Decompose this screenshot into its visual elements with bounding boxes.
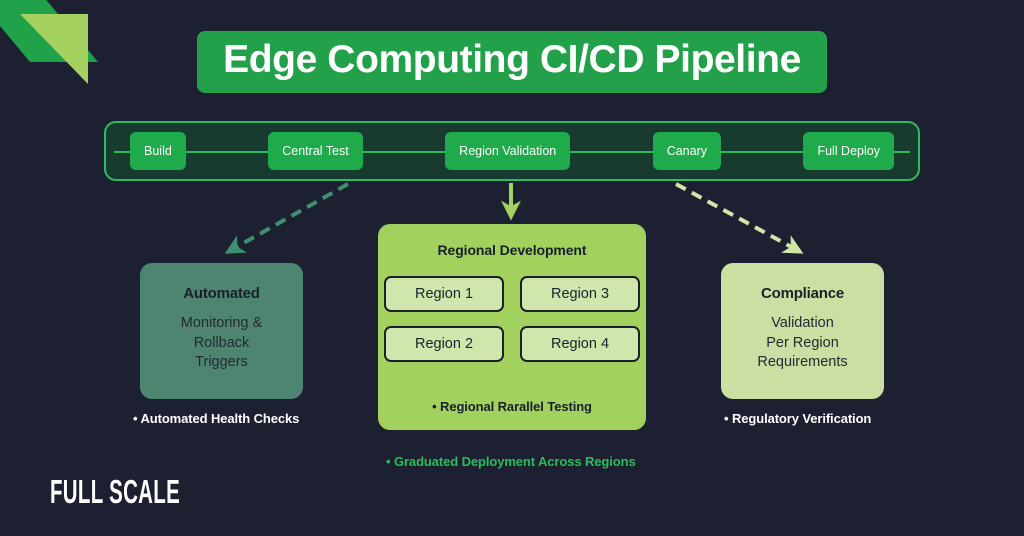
- caption-automated-health-checks: • Automated Health Checks: [133, 411, 299, 426]
- card-compliance-title: Compliance: [761, 285, 844, 302]
- arrow-to-compliance: [676, 184, 795, 249]
- card-automated-line-1: Monitoring &: [181, 314, 262, 334]
- region-box-4[interactable]: Region 4: [520, 326, 640, 362]
- caption-regulatory-verification: • Regulatory Verification: [724, 411, 871, 426]
- region-grid: Region 1 Region 3 Region 2 Region 4: [384, 276, 640, 362]
- card-automated-line-3: Triggers: [181, 353, 262, 373]
- title-container: Edge Computing CI/CD Pipeline: [0, 31, 1024, 93]
- pipeline-stage-full-deploy[interactable]: Full Deploy: [803, 132, 894, 170]
- card-compliance-body: Validation Per Region Requirements: [757, 314, 847, 373]
- card-automated[interactable]: Automated Monitoring & Rollback Triggers: [140, 263, 303, 399]
- card-automated-line-2: Rollback: [181, 334, 262, 354]
- pipeline-stage-region-validation[interactable]: Region Validation: [445, 132, 570, 170]
- region-box-3[interactable]: Region 3: [520, 276, 640, 312]
- card-regional-development[interactable]: Regional Development Region 1 Region 3 R…: [378, 224, 646, 430]
- pipeline-stage-list: Build Central Test Region Validation Can…: [106, 123, 918, 179]
- slide-canvas: Edge Computing CI/CD Pipeline Build Cent…: [0, 0, 1024, 536]
- pipeline-stage-build[interactable]: Build: [130, 132, 186, 170]
- pipeline-container: Build Central Test Region Validation Can…: [104, 121, 920, 181]
- card-compliance[interactable]: Compliance Validation Per Region Require…: [721, 263, 884, 399]
- card-compliance-line-3: Requirements: [757, 353, 847, 373]
- card-automated-title: Automated: [183, 285, 260, 302]
- card-regional-caption: • Regional Rarallel Testing: [378, 399, 646, 414]
- full-scale-logo: FULL SCALE: [50, 473, 180, 511]
- card-automated-body: Monitoring & Rollback Triggers: [181, 314, 262, 373]
- caption-graduated-deployment: • Graduated Deployment Across Regions: [386, 454, 636, 469]
- card-compliance-line-2: Per Region: [757, 334, 847, 354]
- region-box-1[interactable]: Region 1: [384, 276, 504, 312]
- card-compliance-line-1: Validation: [757, 314, 847, 334]
- pipeline-stage-canary[interactable]: Canary: [653, 132, 721, 170]
- card-regional-title: Regional Development: [438, 242, 587, 258]
- region-box-2[interactable]: Region 2: [384, 326, 504, 362]
- page-title: Edge Computing CI/CD Pipeline: [197, 31, 827, 93]
- arrow-to-automated: [233, 184, 348, 249]
- pipeline-stage-central-test[interactable]: Central Test: [268, 132, 362, 170]
